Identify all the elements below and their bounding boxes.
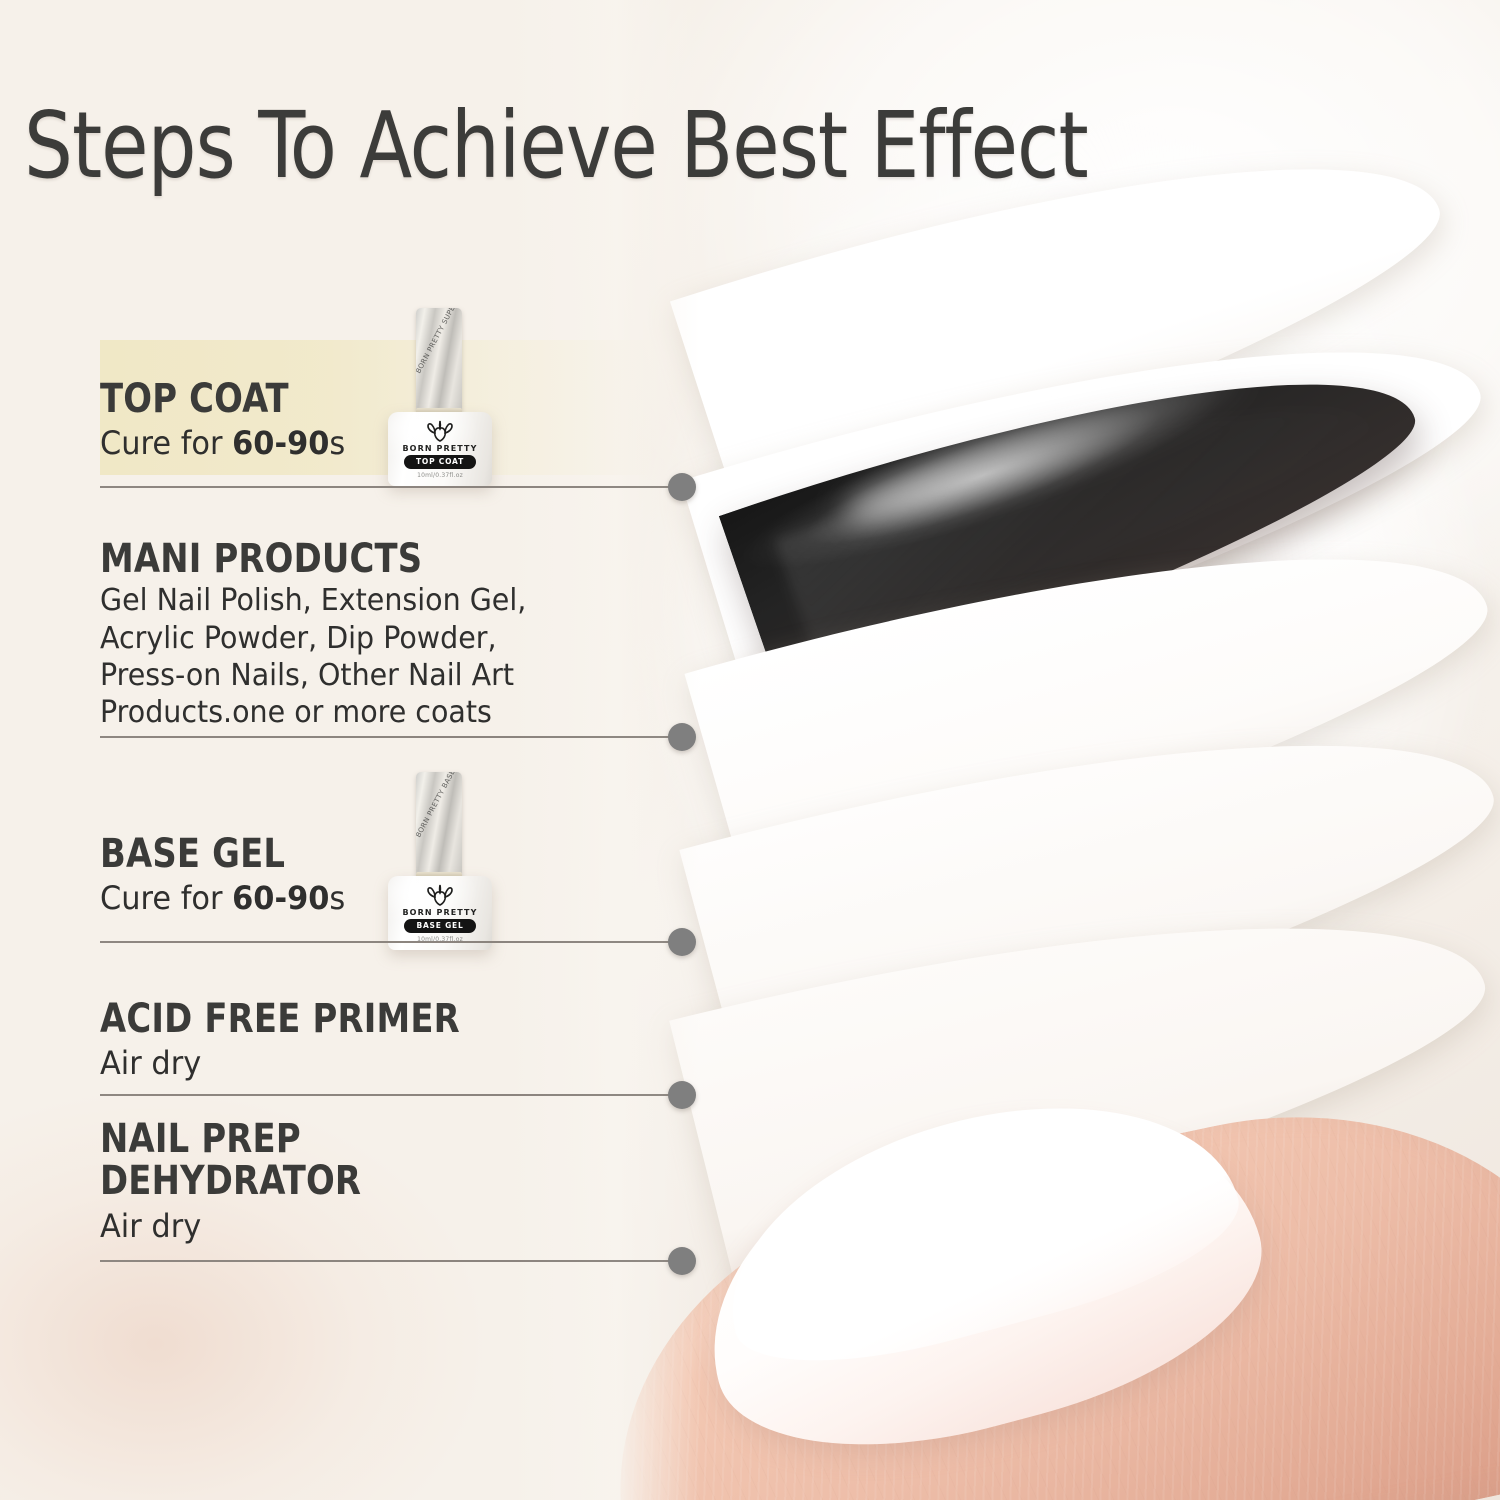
- cure-duration: 60-90: [232, 879, 329, 917]
- connector-line: [100, 736, 678, 738]
- cure-prefix: Cure for: [100, 879, 232, 917]
- step-subtitle: Air dry: [100, 1207, 670, 1246]
- step-acid-free-primer[interactable]: ACID FREE PRIMER Air dry: [100, 998, 700, 1083]
- step-description: Gel Nail Polish, Extension Gel, Acrylic …: [100, 582, 670, 731]
- dry-note: Air dry: [100, 1044, 201, 1082]
- bottle-product-label: TOP COAT: [404, 455, 476, 469]
- black-nail-highlight: [836, 352, 1250, 538]
- connector-line: [100, 1260, 678, 1262]
- steps-list: TOP COAT Cure for 60-90s BORN PRETTY SUP…: [0, 0, 720, 1500]
- step-subtitle: Cure for 60-90s: [100, 424, 670, 463]
- bottle-top-coat[interactable]: BORN PRETTY SUPER TOP COAT BORN PRETTY T…: [388, 308, 492, 486]
- step-nail-prep-dehydrator[interactable]: NAIL PREP DEHYDRATOR Air dry: [100, 1118, 700, 1246]
- bottle-cap-text: BORN PRETTY SUPER TOP COAT: [416, 308, 462, 376]
- step-title: BASE GEL: [100, 833, 664, 875]
- nail-tip-4: [679, 643, 1500, 1106]
- bottle-cap-text: BORN PRETTY BASE GEL: [416, 772, 462, 840]
- step-title: ACID FREE PRIMER: [100, 998, 664, 1040]
- cure-duration: 60-90: [232, 424, 329, 462]
- step-subtitle: Air dry: [100, 1044, 670, 1083]
- bottle-body: BORN PRETTY BASE GEL 10ml/0.37fl.oz: [388, 876, 492, 950]
- connector-line: [100, 486, 678, 488]
- step-title: TOP COAT: [100, 378, 664, 420]
- born-pretty-logo-icon: [422, 884, 458, 908]
- black-nail-tip: [719, 292, 1441, 720]
- natural-nail-free-edge: [698, 1056, 1255, 1393]
- step-title: NAIL PREP DEHYDRATOR: [100, 1118, 664, 1203]
- bottle-cap: BORN PRETTY BASE GEL: [416, 772, 462, 880]
- bottle-cap: BORN PRETTY SUPER TOP COAT: [416, 308, 462, 416]
- bottle-brand: BORN PRETTY: [388, 444, 492, 453]
- connector-dot: [668, 723, 696, 751]
- black-nail-inner-shade: [774, 344, 1382, 658]
- connector-line: [100, 941, 678, 943]
- natural-nail: [671, 1058, 1290, 1493]
- bottle-base-gel[interactable]: BORN PRETTY BASE GEL BORN PRETTY BASE GE…: [388, 772, 492, 950]
- bottle-brand: BORN PRETTY: [388, 908, 492, 917]
- photo-backdrop-glow: [620, 120, 1500, 1320]
- connector-dot: [668, 1081, 696, 1109]
- born-pretty-logo-icon: [422, 420, 458, 444]
- step-mani-products[interactable]: MANI PRODUCTS Gel Nail Polish, Extension…: [100, 538, 700, 731]
- connector-dot: [668, 928, 696, 956]
- cure-suffix: s: [329, 424, 345, 462]
- connector-dot: [668, 473, 696, 501]
- nail-tip-2: [681, 250, 1500, 720]
- connector-dot: [668, 1247, 696, 1275]
- bottle-product-label: BASE GEL: [404, 919, 476, 933]
- bottle-volume: 10ml/0.37fl.oz: [388, 472, 492, 479]
- nail-tip-3: [684, 456, 1500, 924]
- cure-prefix: Cure for: [100, 424, 232, 462]
- step-title: MANI PRODUCTS: [100, 538, 664, 580]
- dry-note: Air dry: [100, 1207, 201, 1245]
- step-subtitle: Cure for 60-90s: [100, 879, 670, 918]
- bottle-body: BORN PRETTY TOP COAT 10ml/0.37fl.oz: [388, 412, 492, 486]
- cure-suffix: s: [329, 879, 345, 917]
- nail-tip-5: [669, 827, 1500, 1283]
- connector-line: [100, 1094, 678, 1096]
- poster-root: Steps To Achieve Best Effect TOP COAT Cu…: [0, 0, 1500, 1500]
